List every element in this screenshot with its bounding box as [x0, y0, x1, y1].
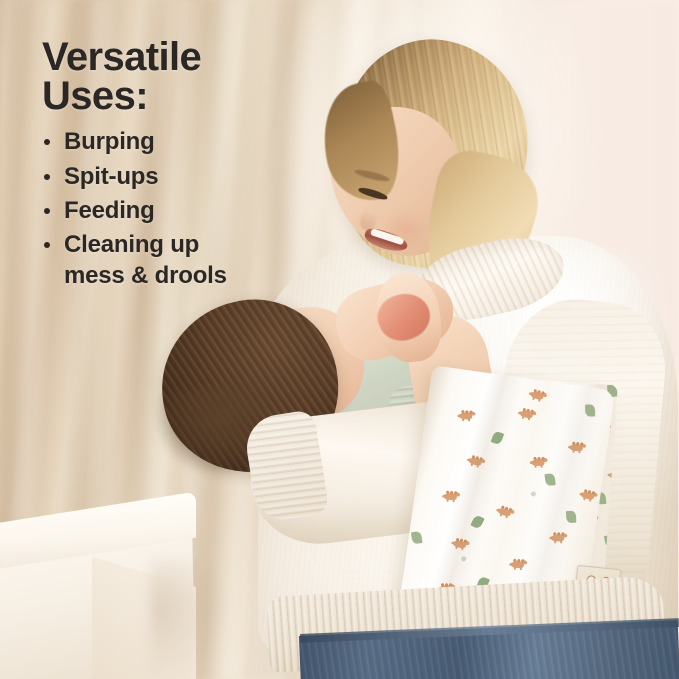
list-item-label: Burping [64, 128, 155, 155]
list-item-label: Spit-ups [64, 163, 158, 190]
list-item: Burping [42, 126, 302, 157]
list-item: Spit-ups [42, 161, 302, 192]
list-item-label-line2: mess & drools [64, 260, 302, 291]
page-title: Versatile Uses: [42, 38, 302, 116]
sofa-shadow [150, 560, 230, 679]
list-item: Feeding [42, 195, 302, 226]
uses-list: Burping Spit-ups Feeding Cleaning up mes… [42, 126, 302, 291]
headline-line-1: Versatile [42, 35, 201, 79]
list-item-label: Feeding [64, 197, 155, 224]
headline-line-2: Uses: [42, 77, 302, 116]
list-item: Cleaning up mess & drools [42, 229, 302, 291]
mother-head [316, 34, 512, 264]
lifestyle-image-canvas: Versatile Uses: Burping Spit-ups Feeding… [0, 0, 679, 679]
marketing-copy-block: Versatile Uses: Burping Spit-ups Feeding… [42, 38, 302, 294]
list-item-label: Cleaning up [64, 231, 199, 258]
